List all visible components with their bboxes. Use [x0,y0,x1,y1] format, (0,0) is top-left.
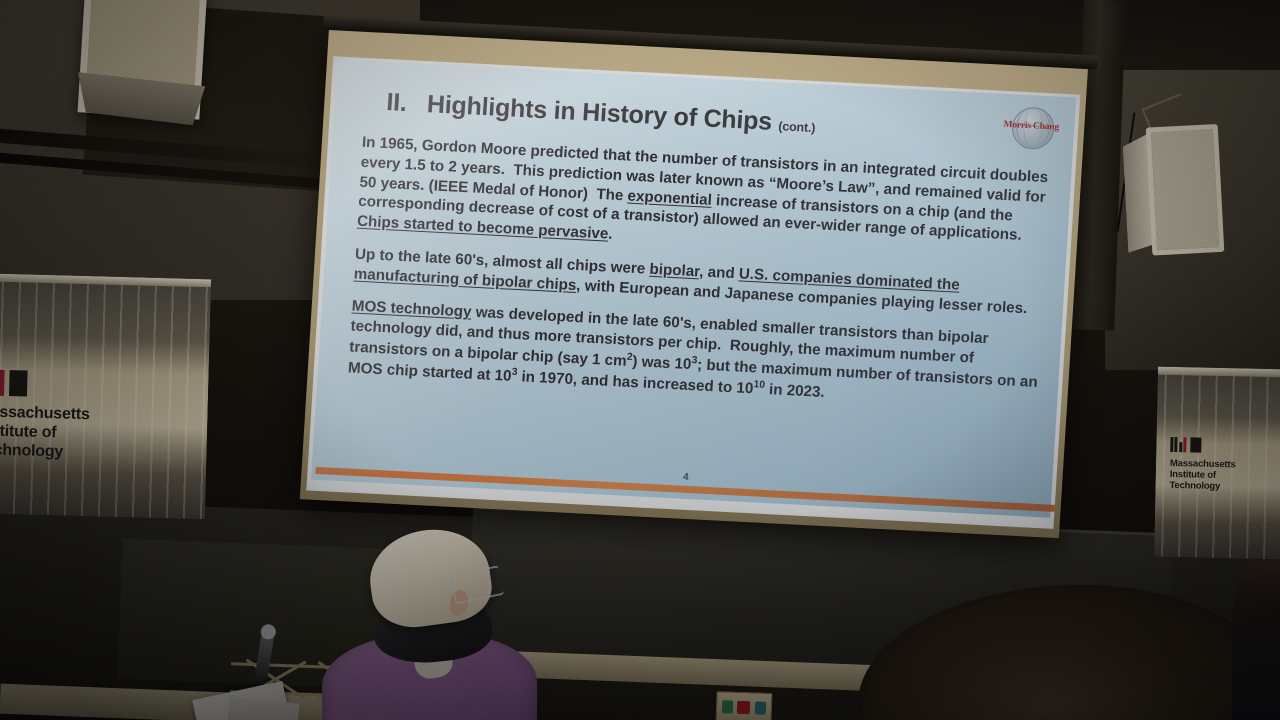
mit-logo [0,369,91,398]
panel-button-green[interactable] [722,700,733,713]
presentation-slide: Morris Chang II. Highlights in History o… [306,56,1080,529]
panel-button-red[interactable] [737,701,750,714]
banner-line-3: Technology [1169,480,1235,493]
mit-logo [1170,437,1236,453]
screen-surface: Morris Chang II. Highlights in History o… [300,30,1088,538]
logo-text: Morris Chang [1002,120,1061,133]
panel-button-teal[interactable] [755,701,766,714]
slide-title-number: II. [386,88,408,117]
wall-control-panel[interactable] [715,691,772,720]
mit-logo-bar [1179,442,1182,452]
mit-logo-bar [1175,437,1178,452]
projection-screen: Morris Chang II. Highlights in History o… [299,12,1094,550]
slide-paragraph-3: MOS technology was developed in the late… [347,297,1041,413]
mit-logo-bar-t [9,370,28,396]
banner-content: Massachusetts Institute of Technology [0,369,91,463]
slide-title-suffix: (cont.) [778,119,816,135]
slide-body: In 1965, Gordon Moore predicted that the… [347,133,1052,426]
banner-content: Massachusetts Institute of Technology [1169,437,1236,493]
banner-line-1: Massachusetts [0,403,90,425]
mit-banner-right: Massachusetts Institute of Technology [1154,367,1280,560]
speaker-grille [1146,124,1225,256]
mit-logo-bar [1170,437,1173,452]
morris-chang-logo: Morris Chang [1001,104,1062,155]
mit-logo-bar-red [1183,437,1186,452]
mit-logo-bar-red [0,370,5,396]
slide-canvas: Morris Chang II. Highlights in History o… [311,59,1076,517]
slide-paragraph-1: In 1965, Gordon Moore predicted that the… [356,133,1051,267]
banner-line-3: Technology [0,441,89,463]
slide-title-text: Highlights in History of Chips [426,90,773,136]
ceiling-speaker-right [1134,124,1226,254]
presenter [322,530,557,720]
lecture-hall-photo: Morris Chang II. Highlights in History o… [0,0,1280,720]
banner-line-2: Institute of [0,422,89,444]
mit-logo-bar-t [1190,437,1201,452]
mit-banner-left: Massachusetts Institute of Technology [0,273,211,519]
ceiling-speaker-left [78,0,209,120]
audience-member-far-right [1232,560,1280,720]
